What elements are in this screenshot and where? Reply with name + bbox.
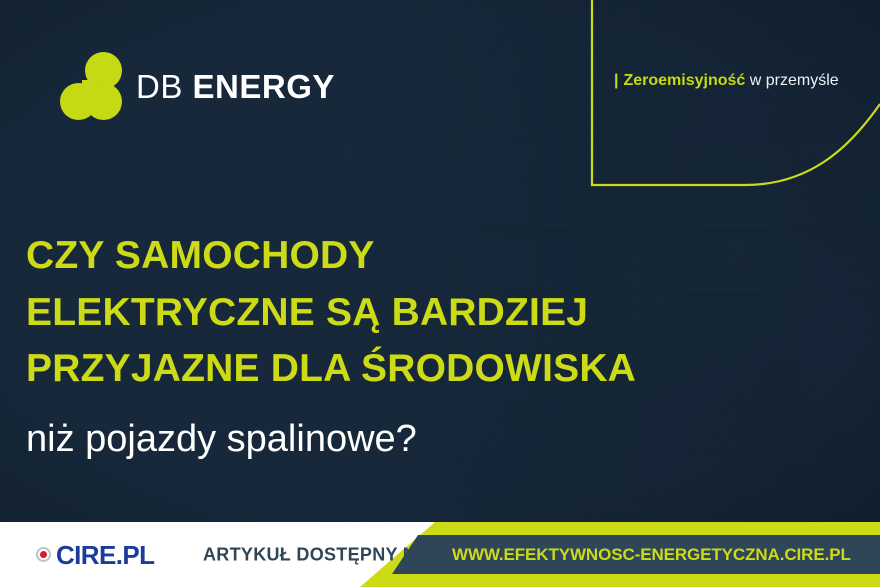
headline: CZY SAMOCHODY ELEKTRYCZNE SĄ BARDZIEJ PR… [26,228,726,398]
footer-bar: CIRE.PL ARTYKUŁ DOSTĘPNY NA WWW.EFEKTYWN… [0,522,880,587]
tagline-rest: w przemyśle [750,72,839,89]
tagline-highlight: Zeroemisyjność [623,72,745,89]
brand-name-second: ENERGY [193,68,335,105]
tagline-bar-glyph: | [614,72,618,89]
db-energy-logo: DB ENERGY [60,52,335,120]
footer-url-link[interactable]: WWW.EFEKTYWNOSC-ENERGETYCZNA.CIRE.PL [452,545,851,565]
headline-line-1: CZY SAMOCHODY [26,228,726,285]
subheadline: niż pojazdy spalinowe? [26,415,417,464]
tagline: |Zeroemisyjność w przemyśle [614,73,839,89]
cire-target-icon [36,547,51,562]
promo-banner: DB ENERGY |Zeroemisyjność w przemyśle CZ… [0,0,880,587]
headline-line-2: ELEKTRYCZNE SĄ BARDZIEJ [26,285,726,342]
cire-logo[interactable]: CIRE.PL [36,542,154,568]
brand-name-first: DB [136,68,183,105]
cire-name: CIRE.PL [56,542,154,568]
trefoil-clover-icon [60,52,122,120]
footer-kicker-text: ARTYKUŁ DOSTĘPNY NA [203,544,429,565]
brand-wordmark: DB ENERGY [136,70,335,103]
headline-line-3: PRZYJAZNE DLA ŚRODOWISKA [26,341,726,398]
